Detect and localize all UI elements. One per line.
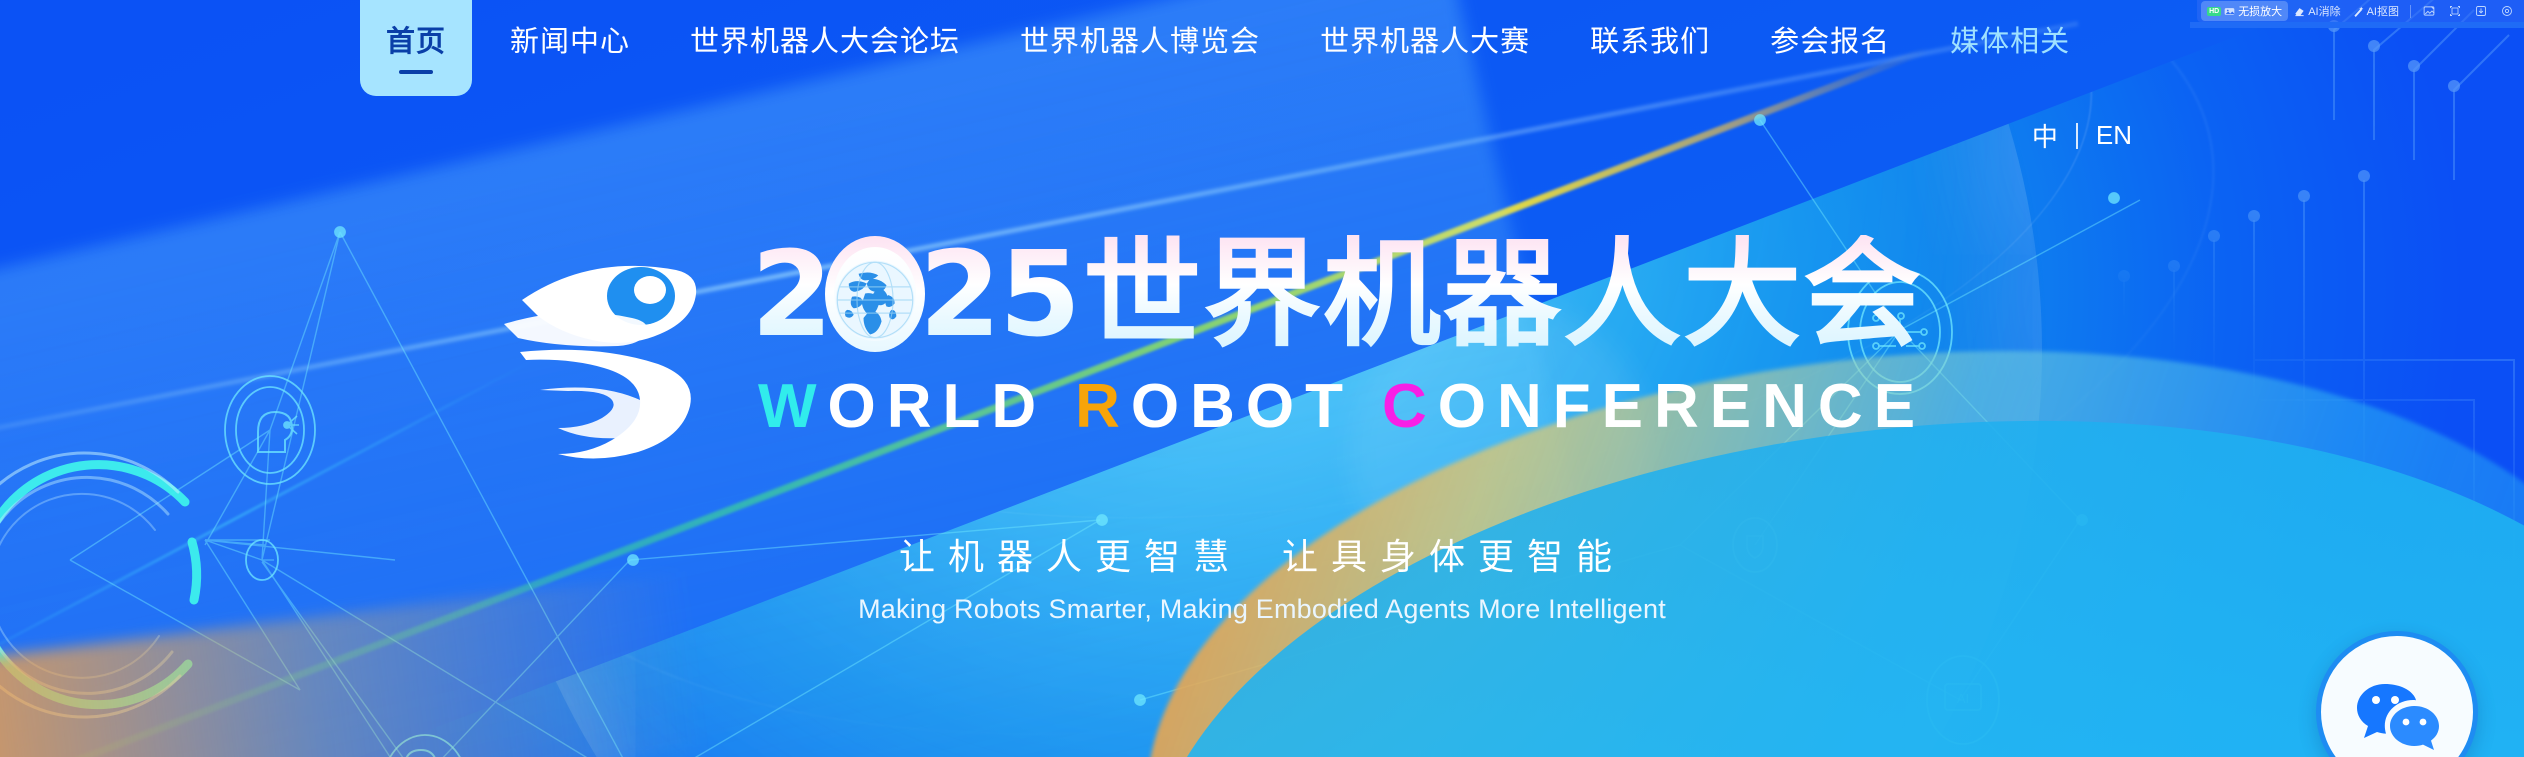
eraser-icon [2294, 6, 2305, 17]
crop-icon-glyph [2449, 5, 2461, 17]
year-digit-2: 2 [751, 235, 831, 353]
nav-item-label: 联系我们 [1590, 26, 1710, 58]
nav-item-label: 世界机器人大赛 [1320, 26, 1530, 58]
settings-icon-glyph [2501, 5, 2513, 17]
active-underline [399, 70, 433, 74]
nav-item-news[interactable]: 新闻中心 [480, 0, 660, 57]
word-world-rest: ORLD [827, 371, 1047, 442]
word-robot-initial: R [1075, 371, 1131, 442]
main-navigation: 首页 新闻中心 世界机器人大会论坛 世界机器人博览会 世界机器人大赛 联系我们 … [0, 0, 2524, 96]
word-conference-initial: C [1382, 371, 1438, 442]
ai-cutout-button[interactable]: AI抠图 [2347, 1, 2405, 21]
wechat-icon [2351, 666, 2443, 757]
hero-tagline-en: Making Robots Smarter, Making Embodied A… [0, 594, 2524, 625]
lang-separator [2076, 123, 2078, 149]
hero-subtitle-en: WORLD ROBOT CONFERENCE [758, 371, 1926, 442]
hero-title-cn: 世界机器人大会 [1083, 235, 1923, 353]
nav-item-label: 首页 [386, 26, 446, 58]
image-edit-icon-glyph [2423, 5, 2435, 17]
word-robot-rest: OBOT [1131, 371, 1354, 442]
nav-item-label: 媒体相关 [1950, 26, 2070, 58]
hero-year: 2 [751, 235, 1923, 353]
tagline-cn-part-a: 让机器人更智慧 [899, 536, 1242, 577]
tagline-cn-part-b: 让具身体更智能 [1282, 536, 1625, 577]
image-edit-toolbar: HD 无损放大 AI消除 AI抠图 [2197, 0, 2524, 22]
nav-item-media[interactable]: 媒体相关 [1920, 0, 2100, 57]
language-switcher: 中 EN [2032, 117, 2132, 154]
hd-badge: HD [2207, 7, 2221, 16]
download-icon[interactable] [2468, 3, 2494, 19]
settings-icon[interactable] [2494, 3, 2520, 19]
magic-wand-icon [2353, 6, 2364, 17]
upscale-button[interactable]: HD 无损放大 [2201, 1, 2288, 21]
browser-chrome-strip [2190, 22, 2524, 28]
upscale-icon [2224, 6, 2235, 17]
nav-items-container: 首页 新闻中心 世界机器人大会论坛 世界机器人博览会 世界机器人大赛 联系我们 … [360, 0, 2100, 96]
ai-erase-label: AI消除 [2308, 3, 2340, 19]
nav-item-forum[interactable]: 世界机器人大会论坛 [660, 0, 990, 57]
hero-tagline-cn: 让机器人更智慧让具身体更智能 [0, 528, 2524, 580]
download-icon-glyph [2475, 5, 2487, 17]
globe-icon [825, 236, 925, 352]
word-world-initial: W [758, 371, 828, 442]
globe-inner [834, 247, 916, 341]
nav-item-contact[interactable]: 联系我们 [1560, 0, 1740, 57]
nav-item-label: 世界机器人大会论坛 [690, 26, 960, 58]
page-root: AI 首页 [0, 0, 2524, 757]
upscale-label: 无损放大 [2238, 3, 2282, 19]
lang-zh-button[interactable]: 中 [2032, 117, 2058, 154]
nav-item-expo[interactable]: 世界机器人博览会 [990, 0, 1290, 57]
word-conference-rest: ONFERENCE [1438, 371, 1926, 442]
lang-en-button[interactable]: EN [2096, 120, 2132, 151]
crop-icon[interactable] [2442, 3, 2468, 19]
image-edit-icon[interactable] [2416, 3, 2442, 19]
nav-item-registration[interactable]: 参会报名 [1740, 0, 1920, 57]
nav-item-label: 世界机器人博览会 [1020, 26, 1260, 58]
year-digits-25: 25 [919, 235, 1079, 353]
hero-title-block: 2 [0, 235, 2524, 442]
nav-item-contest[interactable]: 世界机器人大赛 [1290, 0, 1560, 57]
nav-item-label: 新闻中心 [510, 26, 630, 58]
ai-erase-button[interactable]: AI消除 [2288, 1, 2346, 21]
ai-cutout-label: AI抠图 [2367, 3, 2399, 19]
hero-title-row: 2 [751, 235, 1923, 353]
toolbar-divider [2410, 5, 2411, 18]
nav-item-label: 参会报名 [1770, 26, 1890, 58]
nav-item-home[interactable]: 首页 [360, 0, 472, 96]
